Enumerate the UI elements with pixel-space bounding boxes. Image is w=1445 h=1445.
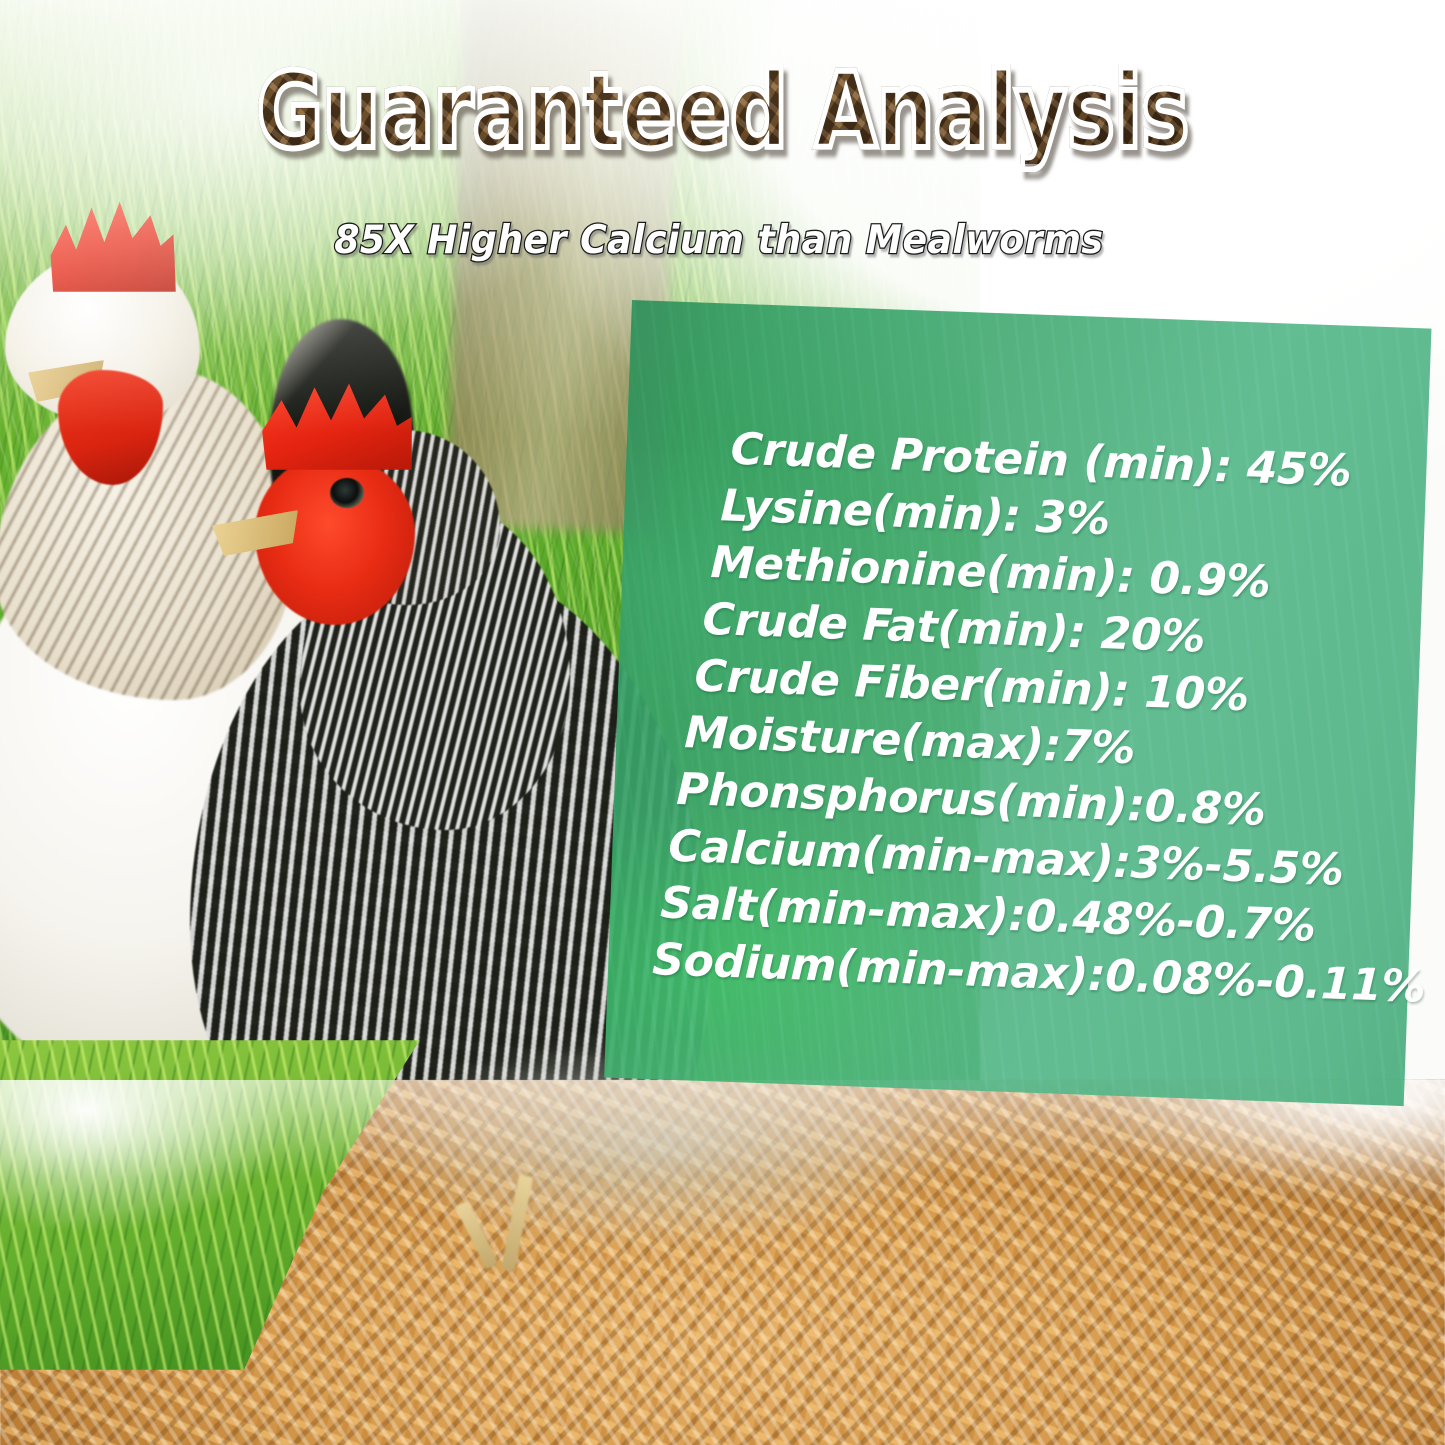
larvae-highlight-mask [0,1080,1445,1445]
nutrition-list: Crude Protein (min): 45% Lysine(min): 3%… [604,300,1431,1106]
guaranteed-analysis-panel: Crude Protein (min): 45% Lysine(min): 3%… [632,300,1442,1110]
barred-hen-eye [330,478,364,508]
nutrition-row-moisture: Moisture(max):7% [684,707,1136,774]
nutrition-row-lysine: Lysine(min): 3% [720,480,1111,545]
nutrition-row-crude-fat: Crude Fat(min): 20% [702,594,1206,663]
product-infographic-poster: Guaranteed Analysis 85X Higher Calcium t… [0,0,1445,1445]
